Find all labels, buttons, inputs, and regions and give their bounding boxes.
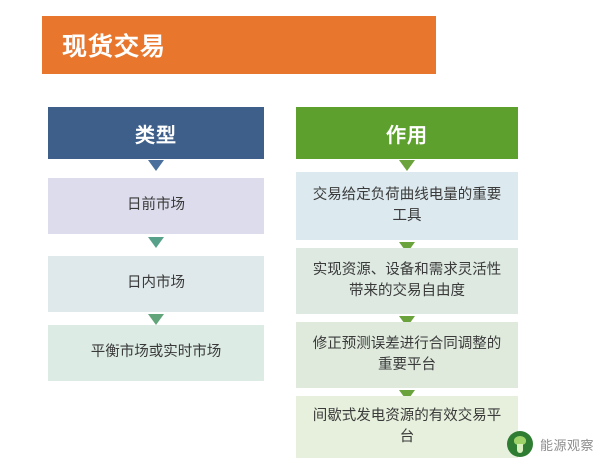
right-item-3-label: 修正预测误差进行合同调整的重要平台 (306, 334, 508, 376)
right-item-4-label: 间歇式发电资源的有效交易平台 (306, 406, 508, 448)
left-item-3: 平衡市场或实时市场 (48, 325, 264, 381)
right-item-1-label: 交易给定负荷曲线电量的重要工具 (306, 185, 508, 227)
arrow-down-icon-left-1 (148, 160, 164, 171)
arrow-down-icon-right-1 (399, 160, 415, 171)
column-header-role: 作用 (296, 107, 518, 159)
diagram-title-banner: 现货交易 (42, 16, 436, 74)
column-header-type: 类型 (48, 107, 264, 159)
right-item-2-label: 实现资源、设备和需求灵活性带来的交易自由度 (306, 260, 508, 302)
left-item-2-label: 日内市场 (127, 273, 185, 294)
right-item-4: 间歇式发电资源的有效交易平台 (296, 396, 518, 458)
column-header-role-label: 作用 (386, 119, 428, 148)
left-item-3-label: 平衡市场或实时市场 (91, 342, 222, 363)
left-item-1: 日前市场 (48, 178, 264, 234)
right-item-1: 交易给定负荷曲线电量的重要工具 (296, 172, 518, 240)
left-item-1-label: 日前市场 (127, 195, 185, 216)
right-item-3: 修正预测误差进行合同调整的重要平台 (296, 322, 518, 388)
diagram-canvas: 现货交易 类型 日前市场 日内市场 平衡市场或实时市场 作用 交易给定负荷曲线电… (0, 0, 606, 467)
left-item-2: 日内市场 (48, 256, 264, 312)
column-header-type-label: 类型 (135, 119, 177, 148)
brand-name: 能源观察 (540, 435, 594, 454)
page-title: 现货交易 (62, 27, 166, 63)
arrow-down-icon-left-3 (148, 314, 164, 325)
right-item-2: 实现资源、设备和需求灵活性带来的交易自由度 (296, 248, 518, 314)
leaf-logo-icon (507, 431, 533, 457)
brand-watermark: 能源观察 (507, 431, 594, 457)
arrow-down-icon-left-2 (148, 237, 164, 248)
